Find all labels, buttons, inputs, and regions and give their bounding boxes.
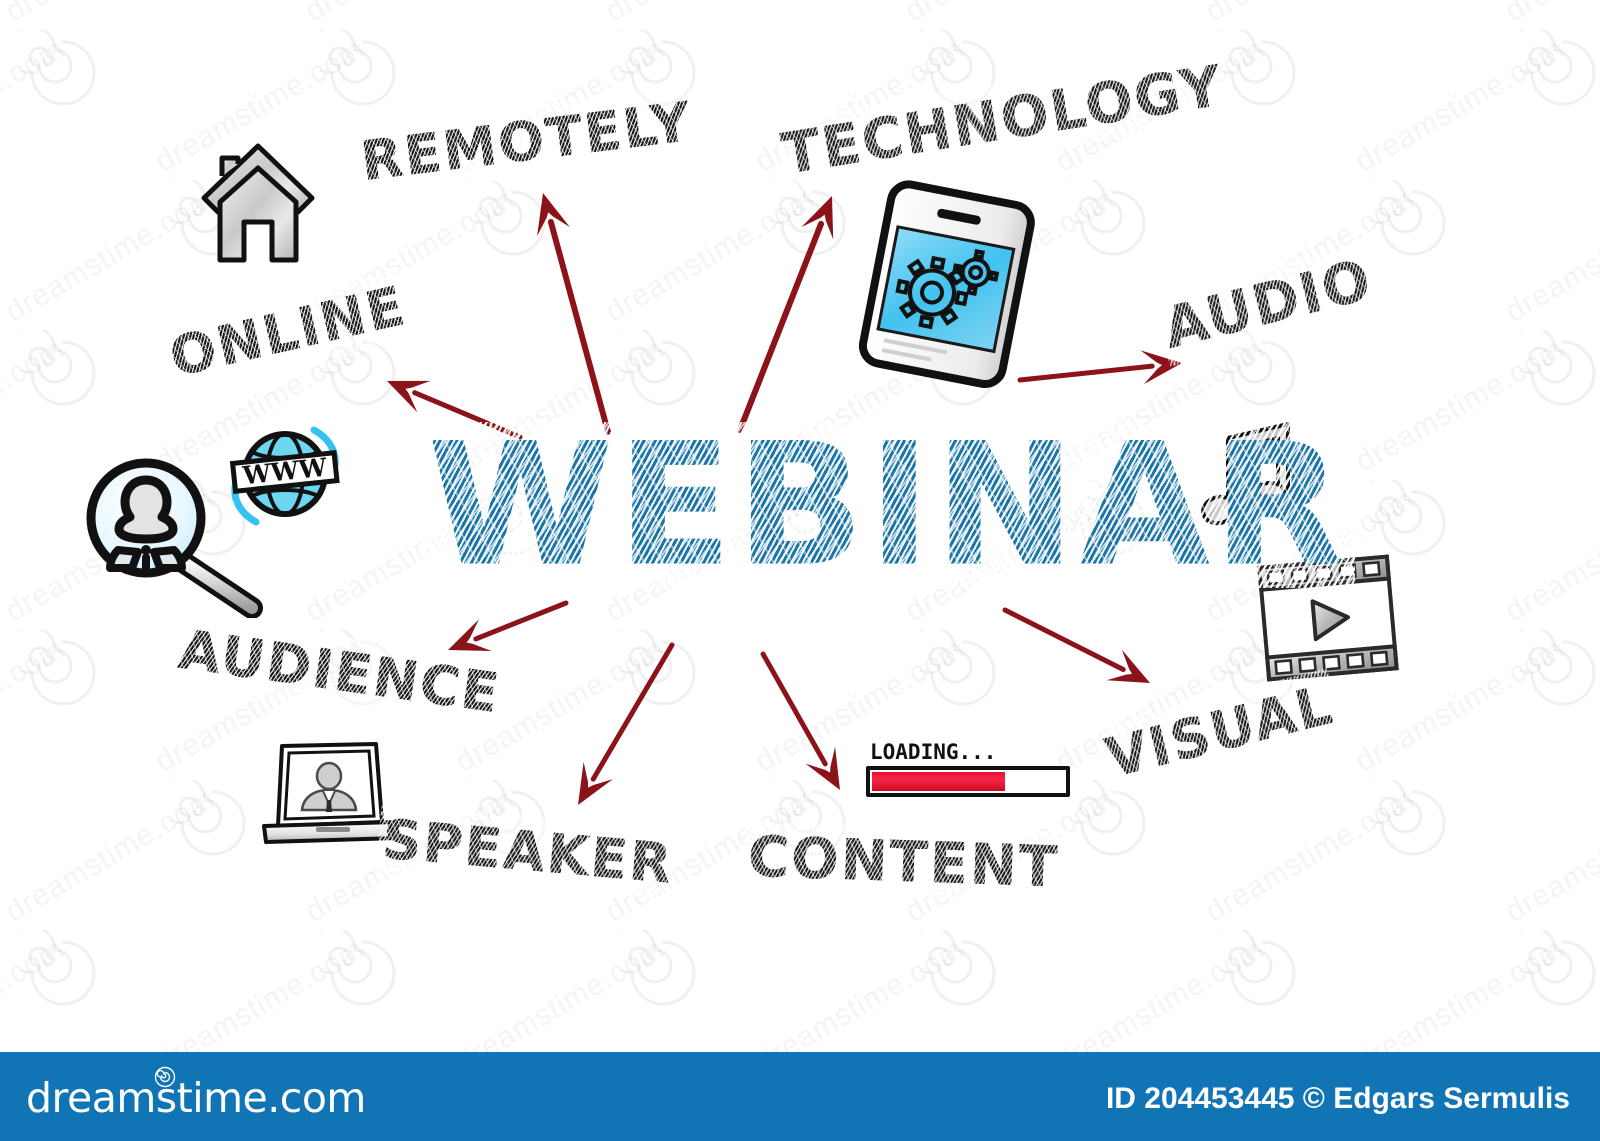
image-credit: ID 204453445 © Edgars Sermulis	[1106, 1082, 1570, 1116]
center-keyword-text: WEBINAR	[428, 430, 1347, 580]
arrow-to-content	[763, 654, 840, 790]
loading-progress-track	[866, 766, 1070, 797]
footer-bar: dreamstime.com ID 204453445 © Edgars Ser…	[0, 1052, 1600, 1141]
dreamstime-logo[interactable]: dreamstime.com	[26, 1074, 366, 1122]
smartphone-icon	[845, 171, 1057, 397]
arrow-to-visual	[1005, 610, 1150, 683]
www-globe-icon: WWW	[216, 408, 352, 544]
arrow-to-audio	[1020, 350, 1182, 384]
arrow-to-audience	[448, 603, 566, 651]
loading-indicator: LOADING...	[866, 740, 1070, 797]
loading-label: LOADING...	[870, 740, 1070, 764]
image-canvas: dreamstime.comdreamstime.comdreamstime.c…	[0, 0, 1600, 1141]
registered-spiral-icon	[154, 1066, 176, 1093]
keyword-content: CONTENT	[747, 825, 1060, 901]
house-icon	[194, 136, 322, 268]
center-keyword: WEBINAR	[428, 430, 1347, 580]
arrow-to-technology	[740, 196, 833, 430]
arrow-to-remotely	[537, 193, 608, 432]
loading-progress-fill	[872, 772, 1005, 791]
laptop-person-icon	[256, 738, 404, 850]
arrow-to-speaker	[578, 645, 672, 805]
